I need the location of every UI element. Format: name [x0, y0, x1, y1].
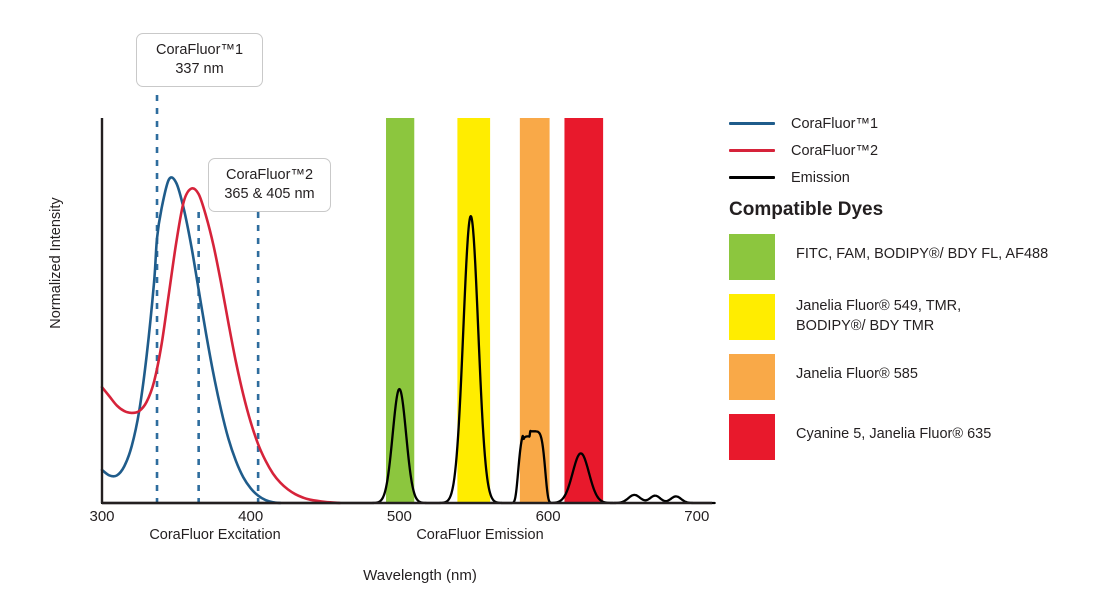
- dye-label-line2: BODIPY®/ BDY TMR: [796, 317, 961, 337]
- x-tick-400: 400: [221, 508, 281, 525]
- y-axis-title: Normalized Intensity: [48, 183, 64, 343]
- dye-label-line1: FITC, FAM, BODIPY®/ BDY FL, AF488: [796, 245, 1048, 265]
- red-band: [564, 118, 603, 503]
- emission-region-label: CoraFluor Emission: [410, 527, 550, 543]
- legend-label: CoraFluor™1: [791, 116, 878, 132]
- dye-row-1: FITC, FAM, BODIPY®/ BDY FL, AF488: [729, 234, 1109, 280]
- dye-label-line1: Cyanine 5, Janelia Fluor® 635: [796, 425, 991, 445]
- x-tick-300: 300: [72, 508, 132, 525]
- green-band: [386, 118, 414, 503]
- x-tick-700: 700: [667, 508, 727, 525]
- dye-color-swatch: [729, 354, 775, 400]
- legend-row-2: CoraFluor™2: [729, 137, 1099, 164]
- dye-label-line1: Janelia Fluor® 549, TMR,: [796, 297, 961, 317]
- legend-row-1: CoraFluor™1: [729, 110, 1099, 137]
- dye-color-swatch: [729, 294, 775, 340]
- legend-label: CoraFluor™2: [791, 143, 878, 159]
- callout-corafluor-1: CoraFluor™1 337 nm: [136, 33, 263, 87]
- series-legend: CoraFluor™1CoraFluor™2Emission: [729, 110, 1099, 191]
- x-tick-600: 600: [518, 508, 578, 525]
- x-tick-500: 500: [369, 508, 429, 525]
- dye-color-swatch: [729, 414, 775, 460]
- dye-label: FITC, FAM, BODIPY®/ BDY FL, AF488: [796, 234, 1048, 265]
- callout-1-line1: CoraFluor™1: [149, 41, 250, 60]
- spectra-figure: CoraFluor™1 337 nm CoraFluor™2 365 & 405…: [0, 0, 1110, 612]
- dye-row-4: Cyanine 5, Janelia Fluor® 635: [729, 414, 1109, 460]
- callout-1-line2: 337 nm: [149, 60, 250, 79]
- dye-label: Janelia Fluor® 549, TMR,BODIPY®/ BDY TMR: [796, 294, 961, 336]
- orange-band: [520, 118, 550, 503]
- x-axis-title: Wavelength (nm): [350, 567, 490, 584]
- legend-label: Emission: [791, 170, 850, 186]
- dye-row-2: Janelia Fluor® 549, TMR,BODIPY®/ BDY TMR: [729, 294, 1109, 340]
- dye-label: Janelia Fluor® 585: [796, 354, 918, 385]
- dye-label-line1: Janelia Fluor® 585: [796, 365, 918, 385]
- curve-corafluor-1: [102, 177, 280, 503]
- dye-label: Cyanine 5, Janelia Fluor® 635: [796, 414, 991, 445]
- compatible-dyes-heading: Compatible Dyes: [729, 199, 883, 221]
- dye-row-3: Janelia Fluor® 585: [729, 354, 1109, 400]
- curve-corafluor-2: [102, 188, 340, 503]
- legend-line-swatch: [729, 122, 775, 125]
- callout-2-line1: CoraFluor™2: [221, 166, 318, 185]
- legend-line-swatch: [729, 149, 775, 152]
- callout-corafluor-2: CoraFluor™2 365 & 405 nm: [208, 158, 331, 212]
- compatible-dyes-list: FITC, FAM, BODIPY®/ BDY FL, AF488Janelia…: [729, 234, 1109, 474]
- dye-color-swatch: [729, 234, 775, 280]
- callout-2-line2: 365 & 405 nm: [221, 185, 318, 204]
- legend-line-swatch: [729, 176, 775, 179]
- legend-row-3: Emission: [729, 164, 1099, 191]
- excitation-region-label: CoraFluor Excitation: [145, 527, 285, 543]
